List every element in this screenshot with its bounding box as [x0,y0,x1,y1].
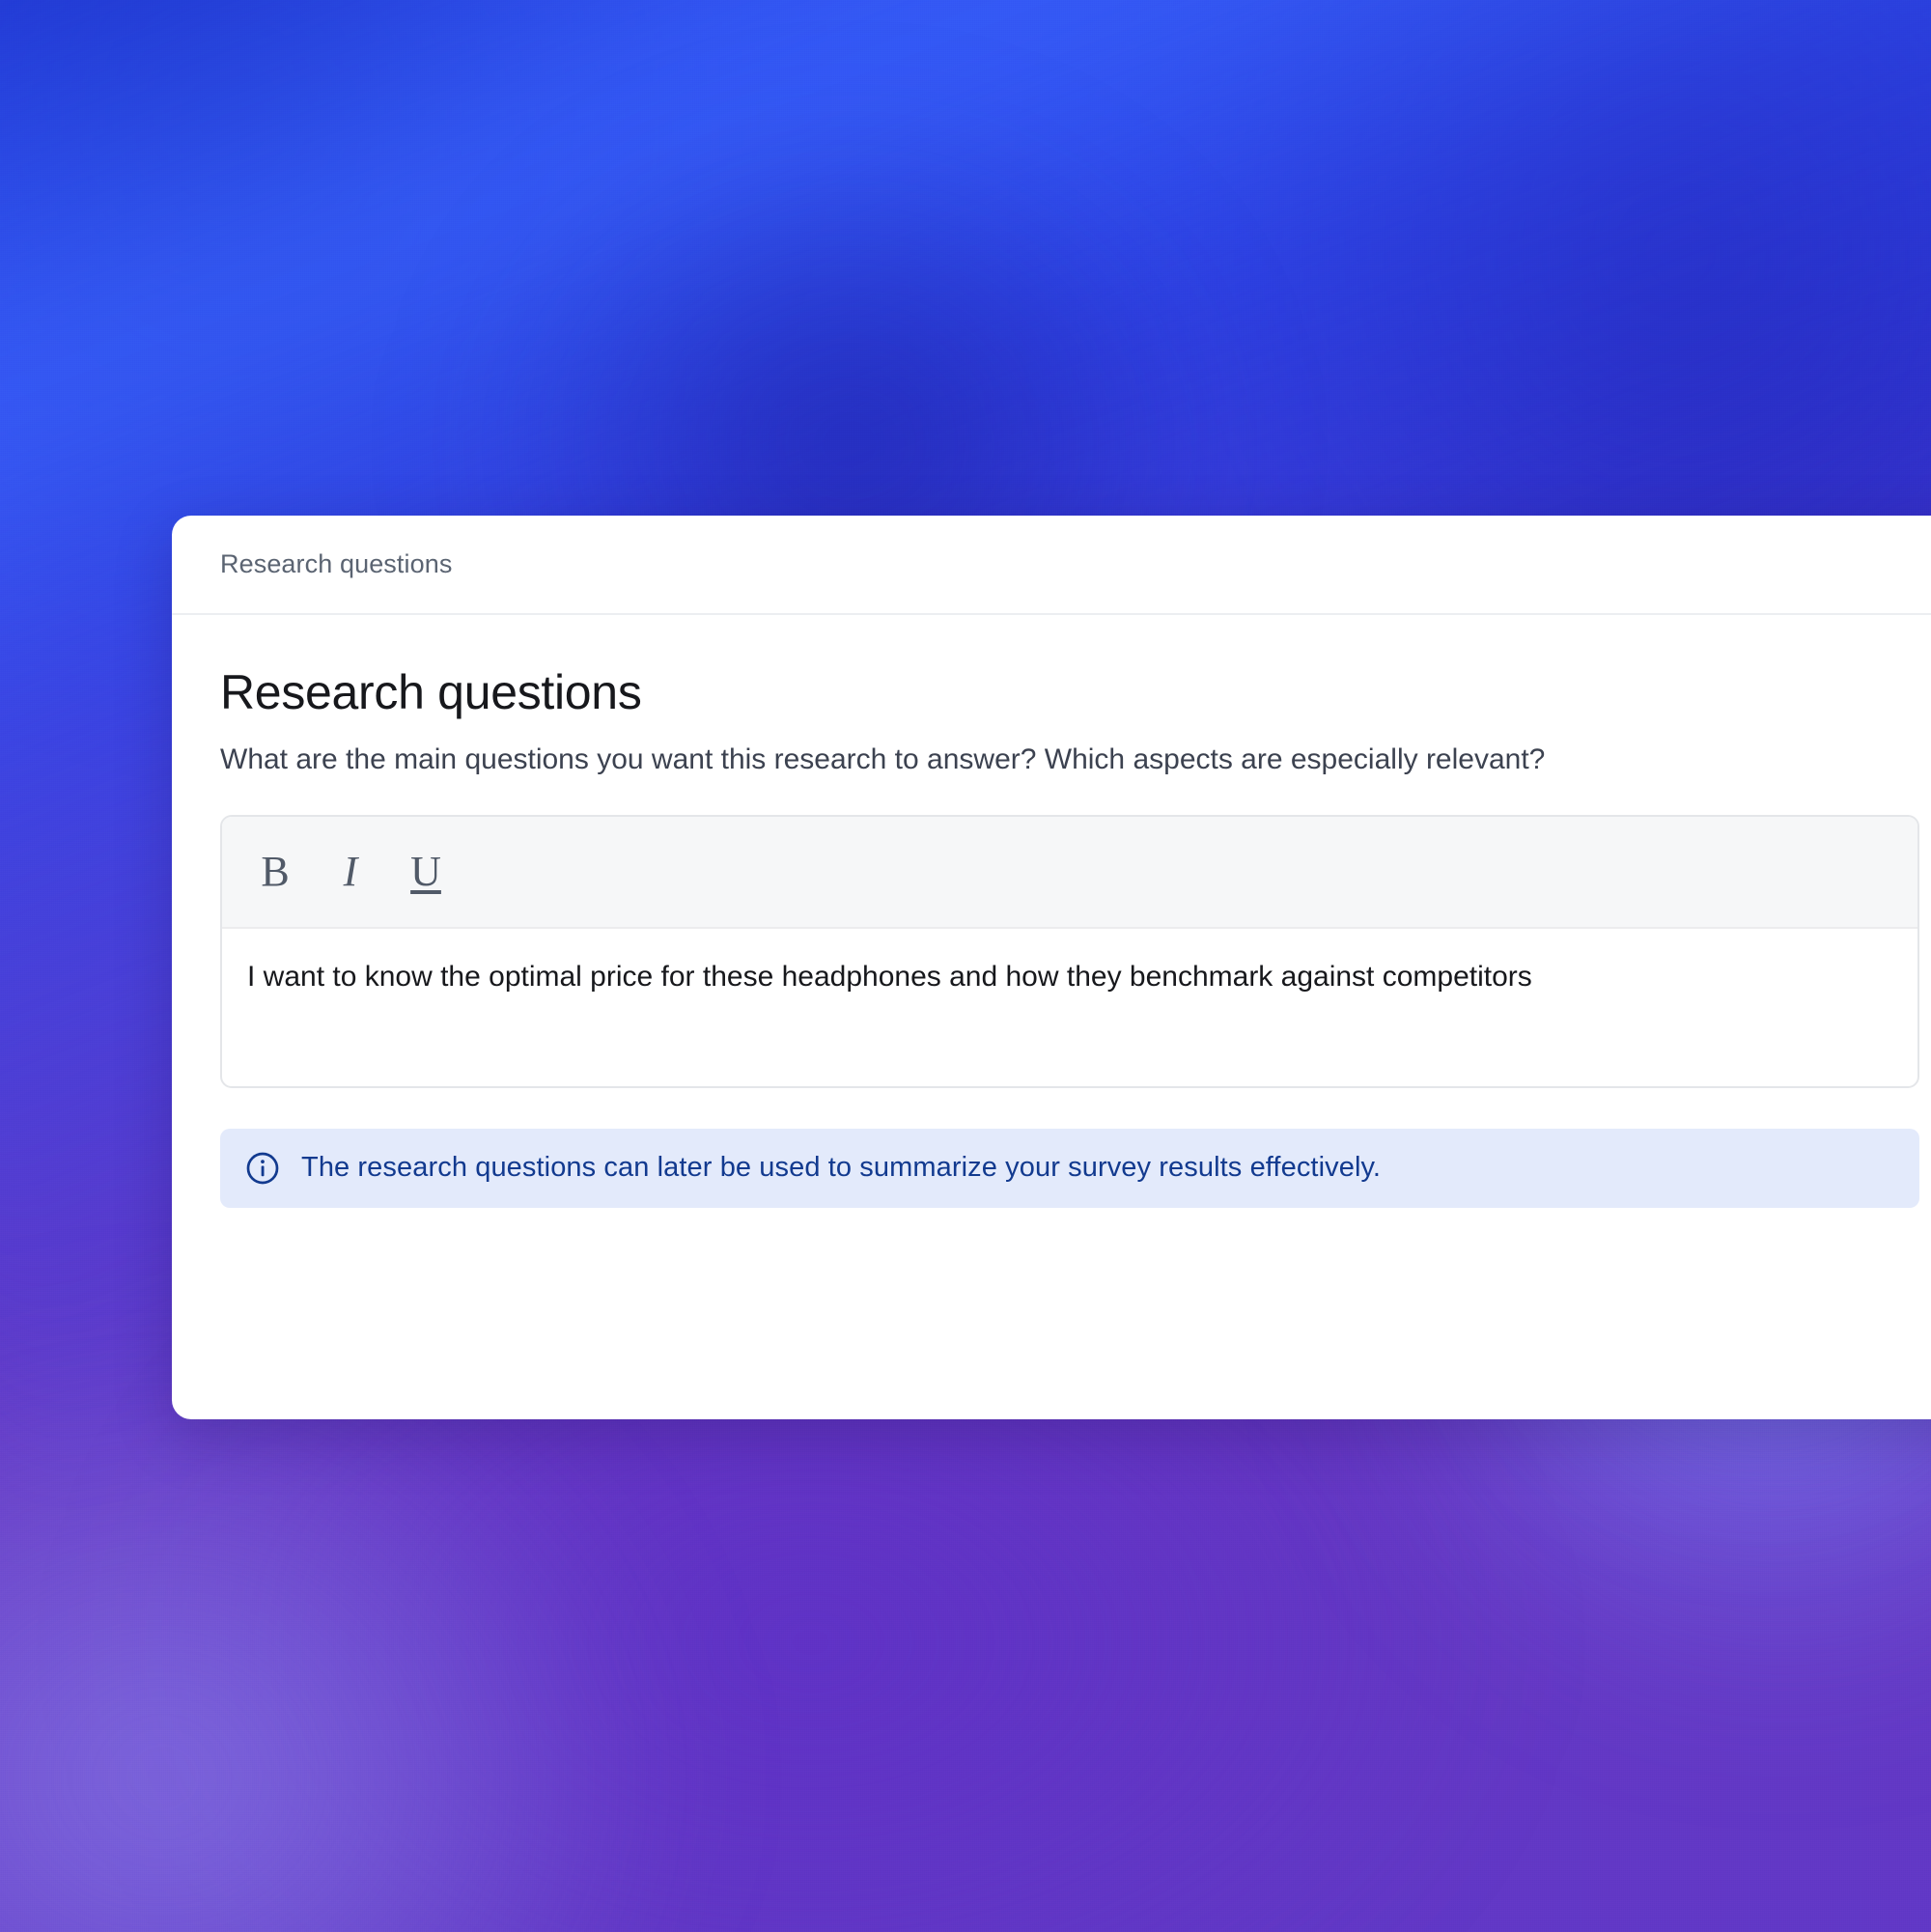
info-banner-text: The research questions can later be used… [301,1152,1381,1184]
info-banner: The research questions can later be used… [220,1129,1919,1208]
dialog-header-title: Research questions [220,549,452,579]
research-questions-textarea[interactable]: I want to know the optimal price for the… [222,929,1917,1086]
dialog-body: Research questions What are the main que… [172,615,1931,1208]
info-circle-icon [245,1151,280,1186]
research-questions-dialog: Research questions Research questions Wh… [172,516,1931,1419]
dialog-header: Research questions [172,516,1931,615]
italic-button[interactable]: I [321,842,380,902]
page-title: Research questions [220,665,1931,719]
bold-button[interactable]: B [245,842,305,902]
underline-button[interactable]: U [396,842,456,902]
rich-text-editor: B I U I want to know the optimal price f… [220,815,1919,1088]
page-subtitle: What are the main questions you want thi… [220,741,1931,780]
editor-toolbar: B I U [222,817,1917,929]
